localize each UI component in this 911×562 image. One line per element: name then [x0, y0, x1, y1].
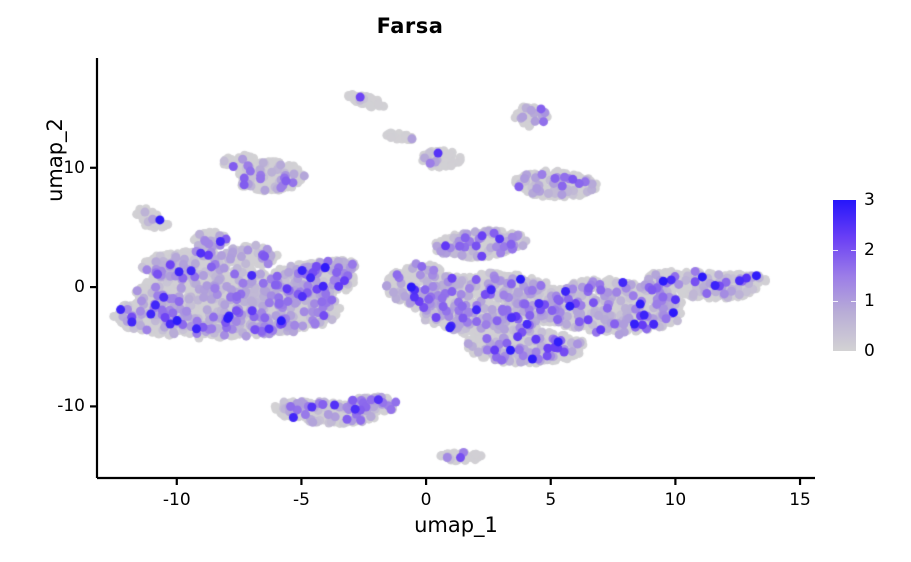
- y-axis-label: umap_2: [43, 60, 67, 260]
- umap-figure: Farsa -10-5051015 100-10 umap_1 umap_2 0…: [0, 0, 911, 562]
- colorbar-gradient: [833, 200, 856, 351]
- x-tick-4: 10: [665, 490, 687, 510]
- scatter-plot-canvas: [0, 0, 911, 562]
- x-tick-3: 5: [545, 490, 556, 510]
- x-tick-0: -10: [163, 490, 191, 510]
- colorbar-label-3: 3: [864, 190, 875, 210]
- colorbar-label-1: 1: [864, 291, 875, 311]
- y-tick-2: -10: [39, 396, 85, 416]
- x-tick-2: 0: [421, 490, 432, 510]
- y-tick-1: 0: [39, 277, 85, 297]
- x-tick-1: -5: [293, 490, 310, 510]
- colorbar-legend: [833, 200, 856, 351]
- colorbar-tick-1: [851, 301, 856, 302]
- colorbar-tick-2: [851, 250, 856, 251]
- colorbar-label-0: 0: [864, 341, 875, 361]
- colorbar-tick-1: [833, 301, 838, 302]
- x-tick-5: 15: [789, 490, 811, 510]
- colorbar-tick-2: [833, 250, 838, 251]
- x-axis-label: umap_1: [97, 513, 815, 537]
- colorbar-label-2: 2: [864, 240, 875, 260]
